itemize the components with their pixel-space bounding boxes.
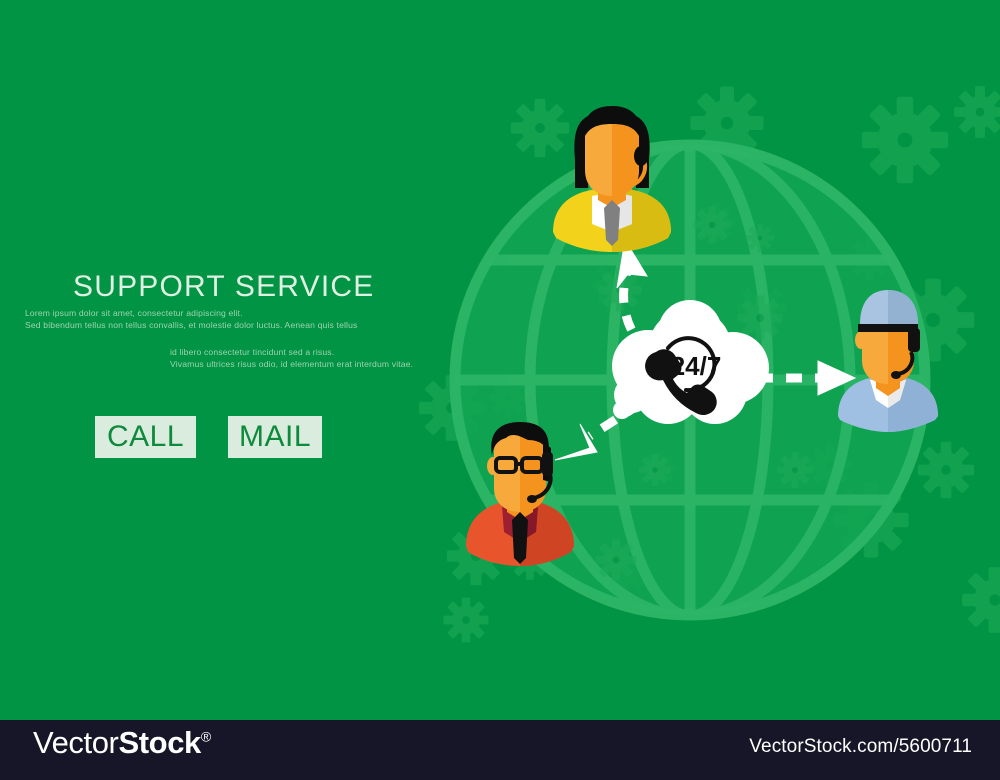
vectorstock-logo: VectorStock® [33,725,211,761]
registered-mark-icon: ® [201,729,211,745]
sub-paragraph-line-2: Vivamus ultrices risus odio, id elementu… [170,359,413,371]
page-title: SUPPORT SERVICE [73,270,374,304]
sub-paragraph: id libero consectetur tincidunt sed a ri… [170,347,413,370]
background-artwork: 24/7 [0,0,1000,720]
lead-paragraph: Lorem ipsum dolor sit amet, consectetur … [25,308,358,331]
call-button[interactable]: CALL [95,416,196,458]
bubble-badge-text: 24/7 [671,351,722,381]
lead-paragraph-line-1: Lorem ipsum dolor sit amet, consectetur … [25,308,358,320]
poster-canvas: 24/7 [0,0,1000,780]
logo-bold-part: Stock [118,725,200,760]
mail-button[interactable]: MAIL [228,416,322,458]
logo-light-part: Vector [33,725,118,760]
lead-paragraph-line-2: Sed bibendum tellus non tellus convallis… [25,320,358,332]
sub-paragraph-line-1: id libero consectetur tincidunt sed a ri… [170,347,413,359]
vectorstock-url: VectorStock.com/5600711 [749,736,972,758]
